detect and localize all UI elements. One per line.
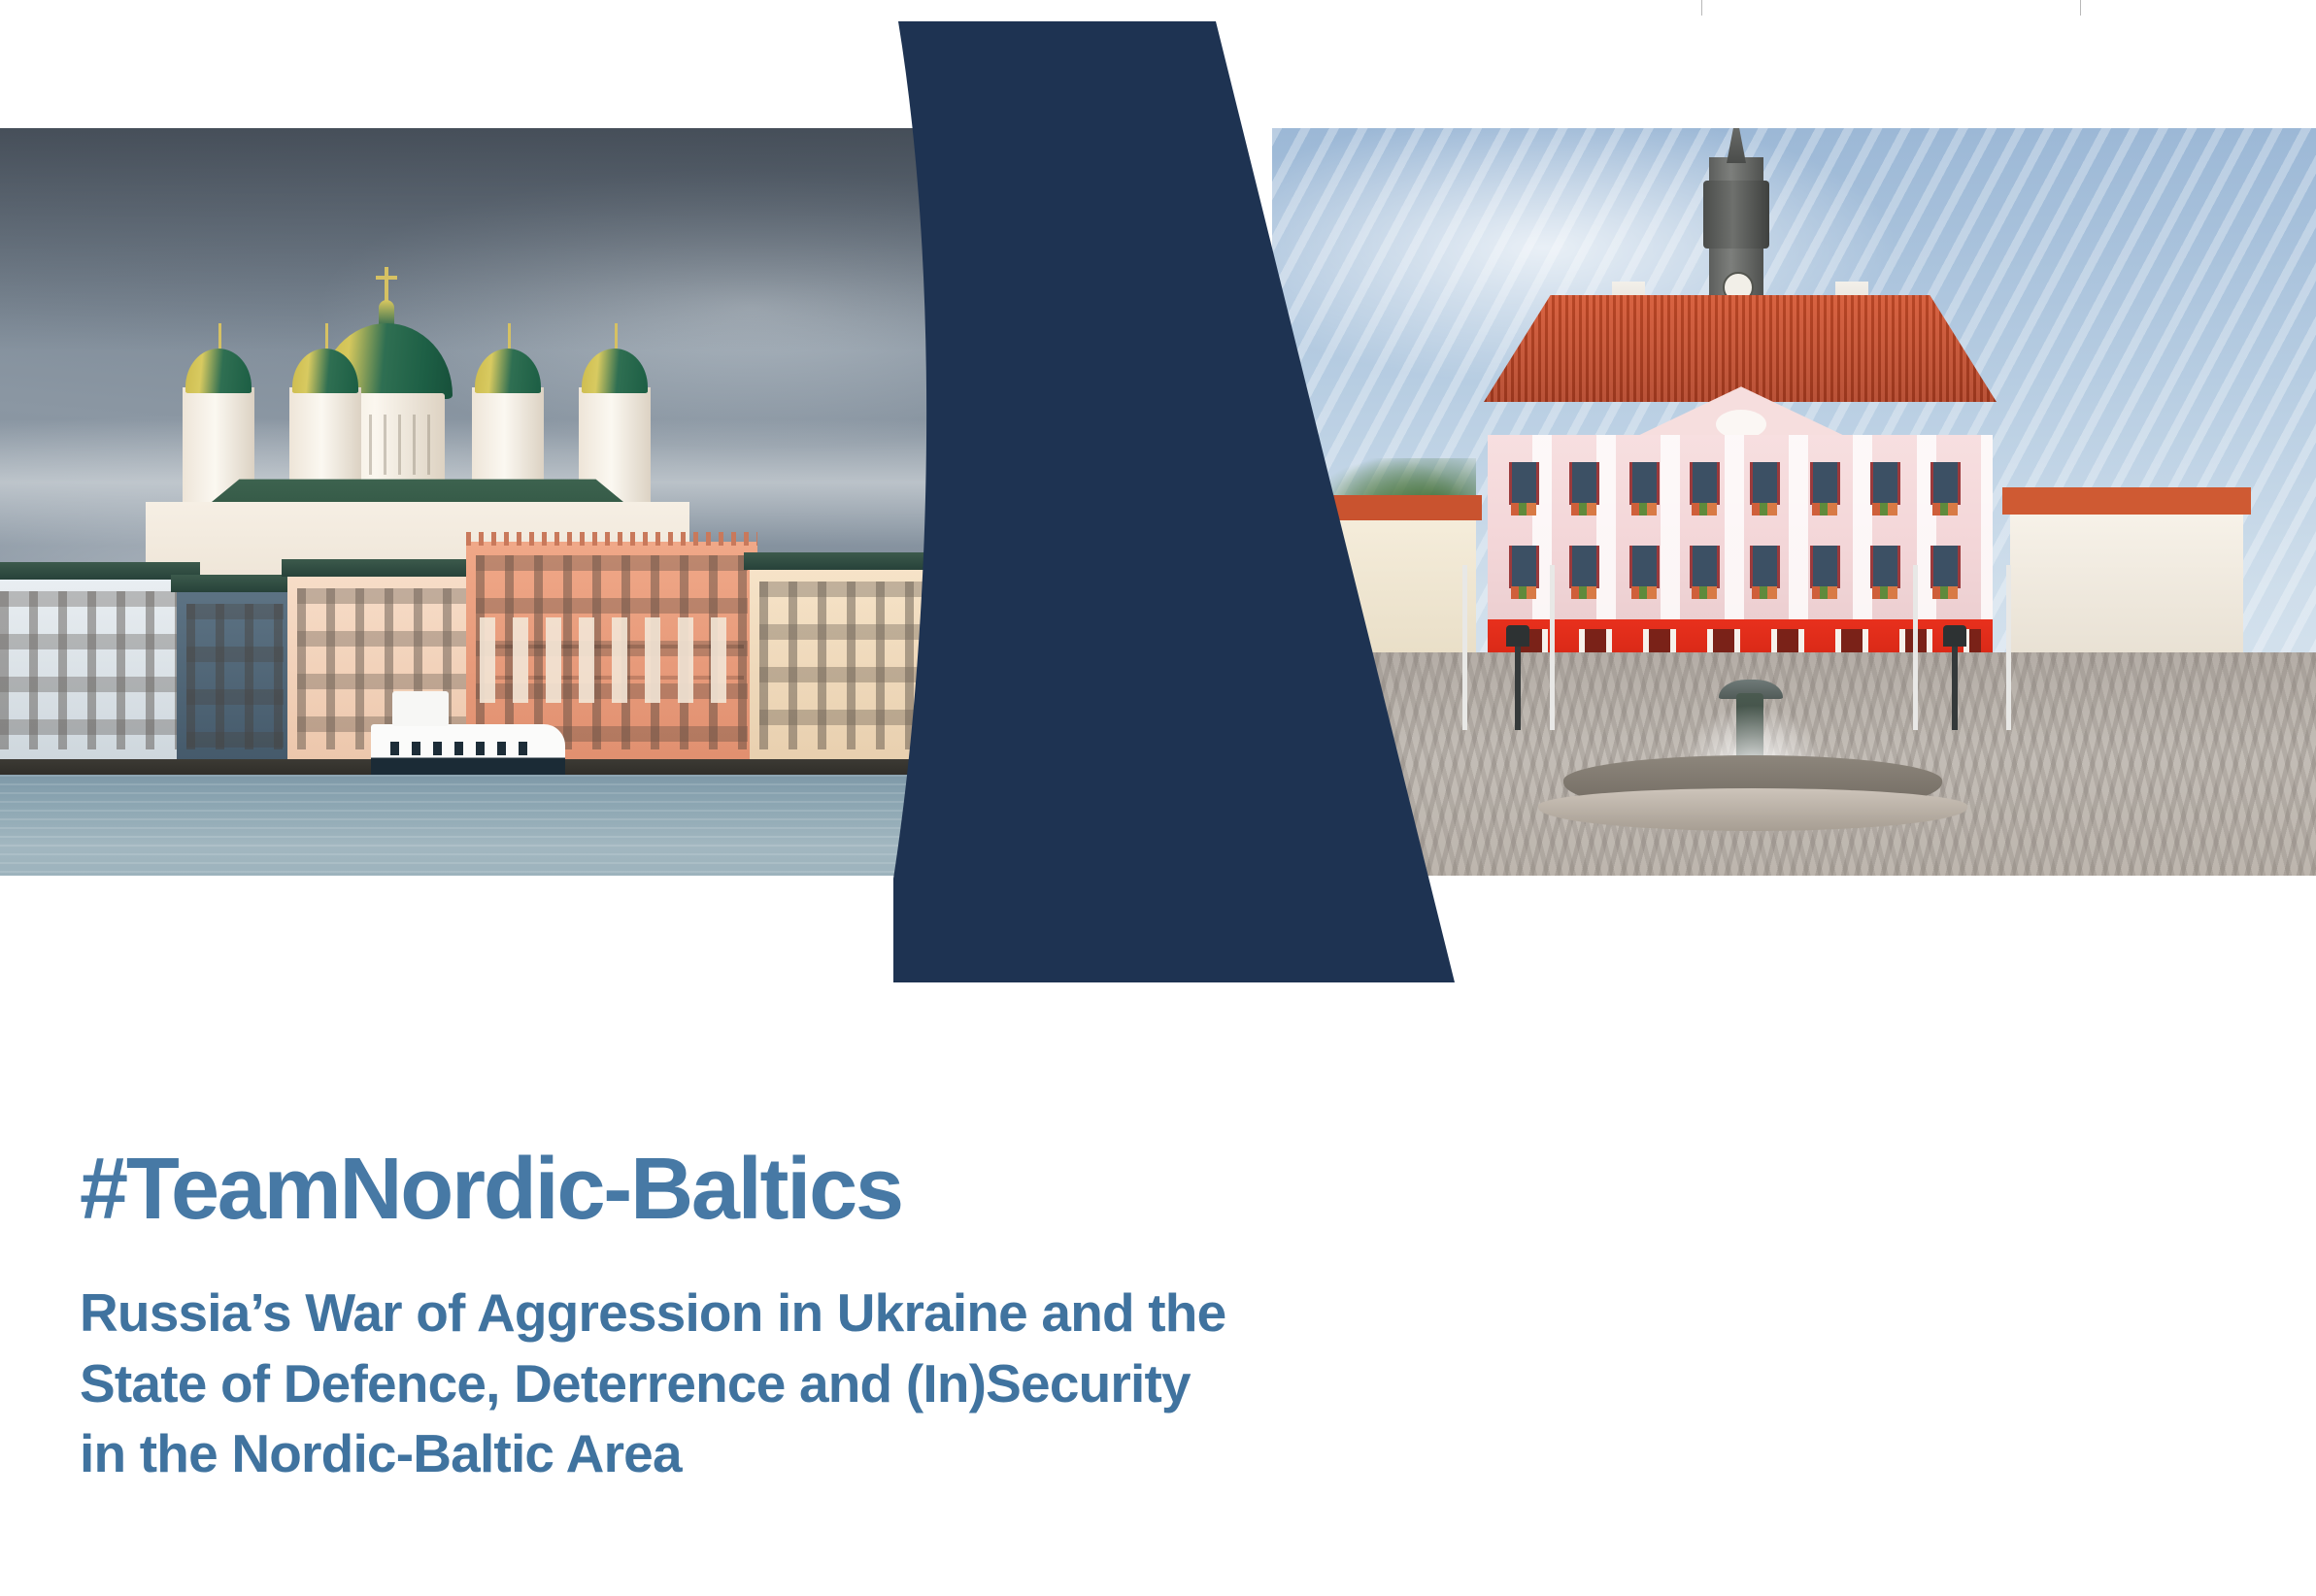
subtitle-line-1: Russia’s War of Aggression in Ukraine an… <box>80 1278 1536 1348</box>
subtitle-line-2: State of Defence, Deterrence and (In)Sec… <box>80 1348 1536 1419</box>
town-hall-flower-boxes <box>1497 586 1983 599</box>
flagpole <box>1550 565 1555 730</box>
title-block: #TeamNordic-Baltics Russia’s War of Aggr… <box>80 1146 1730 1489</box>
page-title-hashtag: #TeamNordic-Baltics <box>80 1146 1730 1233</box>
page-subtitle: Russia’s War of Aggression in Ukraine an… <box>80 1278 1536 1489</box>
crop-mark-top-left <box>1701 0 1702 16</box>
poster-page: #TeamNordic-Baltics Russia’s War of Aggr… <box>0 0 2316 1596</box>
quay-building-white <box>0 578 194 767</box>
crop-mark-top-right <box>2080 0 2081 16</box>
town-hall-window-row <box>1497 546 1983 588</box>
town-hall-flower-boxes <box>1497 503 1983 515</box>
helsinki-harbour-water <box>0 775 1044 876</box>
quay-building-blue <box>177 590 293 767</box>
town-hall-window-row <box>1497 462 1983 505</box>
quay-building-cream <box>750 568 1002 767</box>
photo-tartu-town-hall-square <box>1272 128 2316 876</box>
kissing-students-fountain <box>1563 699 1942 815</box>
town-hall-tile-roof <box>1484 295 1997 402</box>
cathedral-cross-icon <box>385 267 388 302</box>
street-lamp <box>1515 643 1521 730</box>
flagpole <box>2006 565 2011 730</box>
helsinki-ferry-boat <box>371 724 565 779</box>
photo-helsinki-market-square <box>0 128 1044 876</box>
flagpole <box>1462 565 1467 730</box>
street-lamp <box>1952 643 1958 730</box>
hero-banner <box>0 128 2316 876</box>
subtitle-line-3: in the Nordic-Baltic Area <box>80 1418 1536 1489</box>
